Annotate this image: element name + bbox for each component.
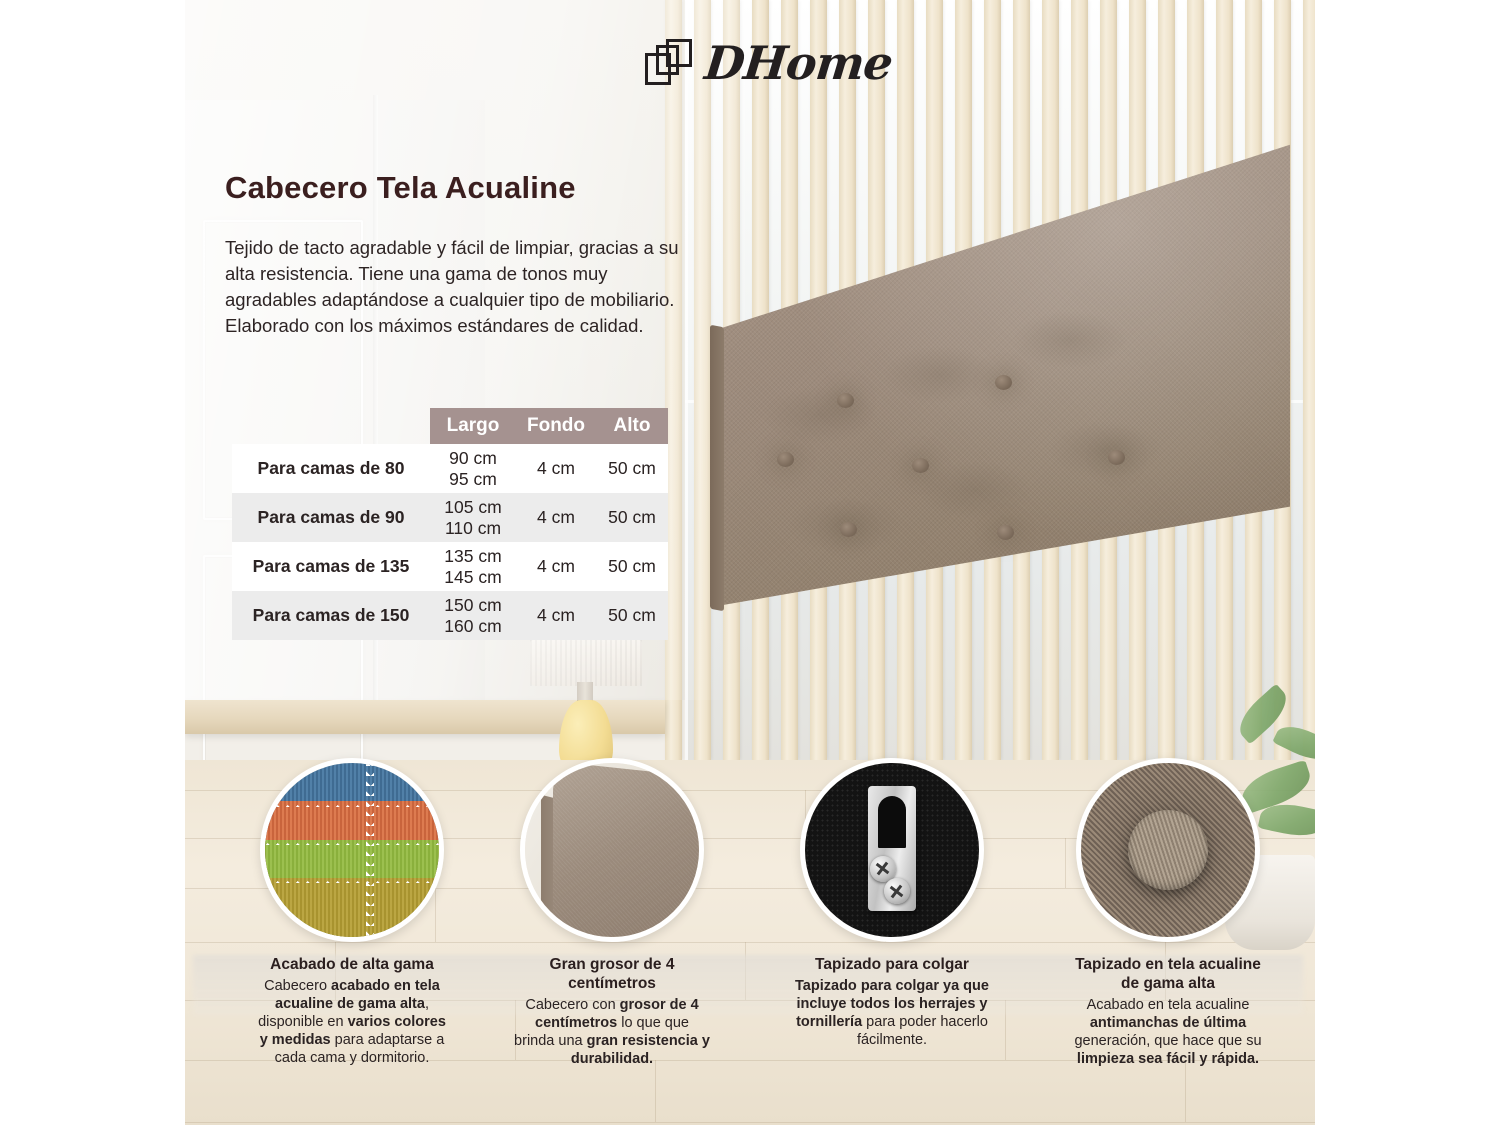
table-cell-fondo: 4 cm (516, 444, 596, 493)
table-header-spacer (232, 408, 430, 444)
table-cell-bed-size: Para camas de 150 (232, 591, 430, 640)
table-cell-largo: 150 cm160 cm (430, 591, 516, 640)
feature-title: Tapizado en tela acualine de gama alta (1068, 955, 1268, 993)
table-cell-largo: 105 cm110 cm (430, 493, 516, 542)
table-row: Para camas de 135135 cm145 cm4 cm50 cm (232, 542, 668, 591)
feature-title: Tapizado para colgar (792, 955, 992, 974)
feature-body: Tapizado para colgar ya que incluye todo… (792, 977, 992, 1049)
table-header-fondo: Fondo (516, 408, 596, 444)
table-cell-largo: 90 cm95 cm (430, 444, 516, 493)
headboard-thickness-icon (520, 758, 704, 942)
feature-item-3: Tapizado para colgar Tapizado para colga… (792, 758, 992, 1049)
wood-slat (810, 0, 827, 760)
feature-item-4: Tapizado en tela acualine de gama alta A… (1068, 758, 1268, 1068)
wood-slat (868, 0, 885, 760)
table-header-row: Largo Fondo Alto (232, 408, 668, 444)
table-cell-bed-size: Para camas de 90 (232, 493, 430, 542)
table-row: Para camas de 90105 cm110 cm4 cm50 cm (232, 493, 668, 542)
wood-slat (1129, 0, 1146, 760)
table-cell-bed-size: Para camas de 80 (232, 444, 430, 493)
table-cell-fondo: 4 cm (516, 542, 596, 591)
table-cell-bed-size: Para camas de 135 (232, 542, 430, 591)
table-cell-fondo: 4 cm (516, 591, 596, 640)
floor-plank-line (185, 1122, 1315, 1123)
table-header-largo: Largo (430, 408, 516, 444)
feature-title: Gran grosor de 4 centímetros (512, 955, 712, 993)
feature-body: Acabado en tela acualine antimanchas de … (1068, 996, 1268, 1068)
logo-squares-icon (645, 39, 693, 87)
product-infographic: DHome Cabecero Tela Acualine Tejido de t… (0, 0, 1500, 1125)
wood-slat (723, 0, 740, 760)
wood-slat (839, 0, 856, 760)
wood-slat (665, 0, 682, 760)
dimensions-table: Largo Fondo Alto Para camas de 8090 cm95… (232, 408, 668, 640)
wood-slat (926, 0, 943, 760)
wood-slat (1187, 0, 1204, 760)
brand-name: DHome (702, 36, 895, 90)
lamp-shade (530, 640, 642, 686)
wood-slat (955, 0, 972, 760)
feature-item-2: Gran grosor de 4 centímetros Cabecero co… (512, 758, 712, 1068)
wood-slat (1100, 0, 1117, 760)
table-row: Para camas de 8090 cm95 cm4 cm50 cm (232, 444, 668, 493)
tufting-button-icon (1076, 758, 1260, 942)
wood-slat (1303, 0, 1315, 760)
feature-body: Cabecero con grosor de 4 centímetros lo … (512, 996, 712, 1068)
wood-slat (1216, 0, 1233, 760)
wood-slat (984, 0, 1001, 760)
floor-plank-seam (1185, 1060, 1186, 1122)
table-cell-fondo: 4 cm (516, 493, 596, 542)
wood-slat (781, 0, 798, 760)
wood-slat (1042, 0, 1059, 760)
feature-title: Acabado de alta gama (252, 955, 452, 974)
page-title: Cabecero Tela Acualine (225, 170, 576, 206)
table-cell-largo: 135 cm145 cm (430, 542, 516, 591)
wood-slat (1013, 0, 1030, 760)
wood-slat (1245, 0, 1262, 760)
table-header-alto: Alto (596, 408, 668, 444)
table-cell-alto: 50 cm (596, 444, 668, 493)
wood-slat (1274, 0, 1291, 760)
fabric-swatches-icon (260, 758, 444, 942)
floor-plank-seam (655, 1060, 656, 1122)
table-cell-alto: 50 cm (596, 493, 668, 542)
floor-plank-seam (1065, 838, 1066, 888)
wood-slat (752, 0, 769, 760)
wood-slat-screen (665, 0, 1315, 760)
brand-logo: DHome (645, 36, 892, 90)
product-description: Tejido de tacto agradable y fácil de lim… (225, 235, 680, 339)
feature-item-1: Acabado de alta gama Cabecero acabado en… (252, 758, 452, 1067)
wood-slat (1158, 0, 1175, 760)
wood-slat (694, 0, 711, 760)
feature-body: Cabecero acabado en tela acualine de gam… (252, 977, 452, 1067)
wood-slat (1071, 0, 1088, 760)
wall-bracket-icon (800, 758, 984, 942)
table-row: Para camas de 150150 cm160 cm4 cm50 cm (232, 591, 668, 640)
table-cell-alto: 50 cm (596, 591, 668, 640)
wood-slat (897, 0, 914, 760)
table-cell-alto: 50 cm (596, 542, 668, 591)
